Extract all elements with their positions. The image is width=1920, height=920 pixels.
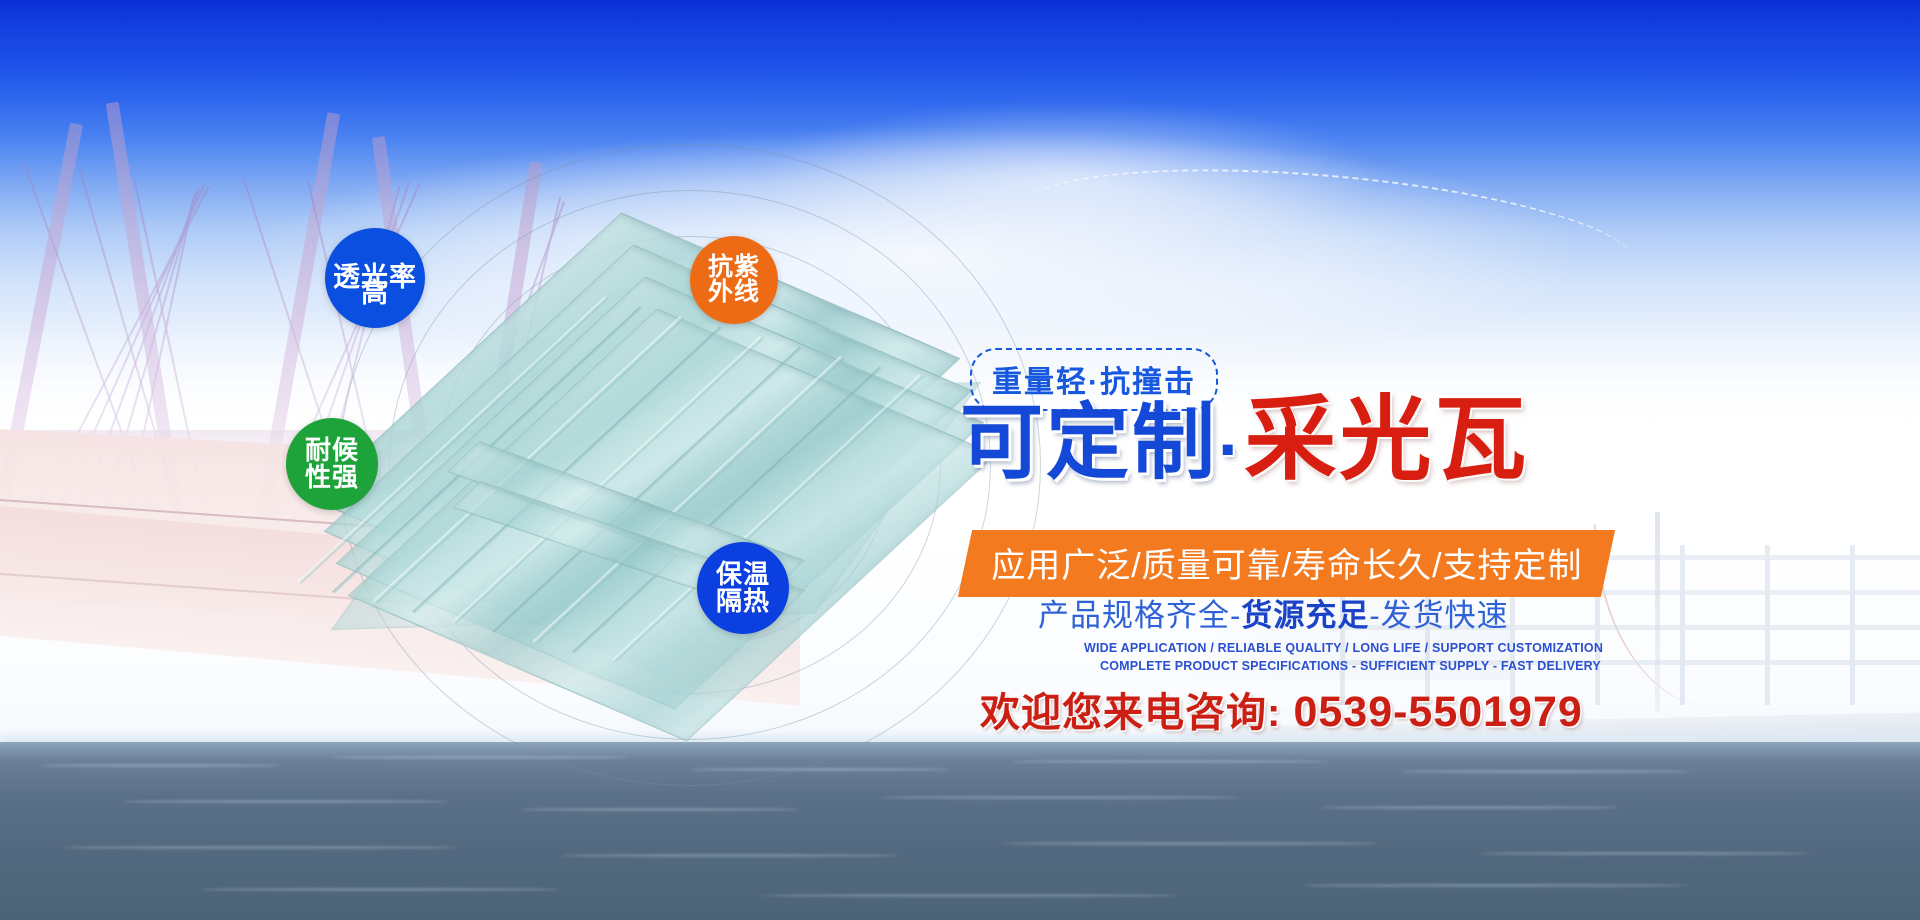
headline-separator-dot: · — [1218, 410, 1244, 488]
badge-line-1: 抗紫 — [708, 255, 760, 281]
english-tagline-line1: WIDE APPLICATION / RELIABLE QUALITY / LO… — [1084, 641, 1603, 655]
badge-line-1: 保温 — [716, 561, 770, 588]
badge-line-2: 隔热 — [716, 588, 770, 615]
contact-phone[interactable]: 欢迎您来电咨询: 0539-5501979 — [980, 680, 1583, 738]
features-strip: 应用广泛/质量可靠/寿命长久/支持定制 — [958, 530, 1616, 597]
marketing-copy: 重量轻·抗撞击 可定制·采光瓦 应用广泛/质量可靠/寿命长久/支持定制 产品规格… — [960, 340, 1900, 760]
promo-banner: 透光率 抗紫 外线 耐候 性强 保温 隔热 高 重量轻·抗撞击 可定制·采光瓦 … — [0, 0, 1920, 920]
english-tagline-line2: COMPLETE PRODUCT SPECIFICATIONS - SUFFIC… — [1100, 659, 1601, 673]
headline: 可定制·采光瓦 — [960, 394, 1529, 486]
features-strip-text: 应用广泛/质量可靠/寿命长久/支持定制 — [991, 538, 1582, 587]
badge-line-2: 性强 — [305, 464, 359, 491]
badge-anti-uv[interactable]: 抗紫 外线 — [690, 236, 778, 324]
badge-insulation[interactable]: 保温 隔热 — [697, 542, 789, 634]
badge-line-2: 高 — [361, 280, 389, 308]
headline-blue-text: 可定制 — [960, 396, 1218, 489]
badge-line-2: 外线 — [708, 280, 760, 306]
subline-suffix: -发货快速 — [1369, 598, 1508, 633]
badge-line-1: 耐候 — [305, 437, 359, 464]
headline-red-text: 采光瓦 — [1244, 389, 1529, 491]
product-corrugated-panel — [390, 250, 910, 680]
subline-highlight: 货源充足 — [1241, 598, 1369, 633]
badge-weather-resistance[interactable]: 耐候 性强 — [286, 418, 378, 510]
subline-prefix: 产品规格齐全- — [1038, 598, 1241, 633]
phone-label: 欢迎您来电咨询: — [980, 691, 1281, 735]
phone-number: 0539-5501979 — [1293, 688, 1582, 736]
badge-transmittance-line2: 高 — [325, 272, 425, 316]
supply-subline: 产品规格齐全-货源充足-发货快速 — [1038, 590, 1509, 635]
